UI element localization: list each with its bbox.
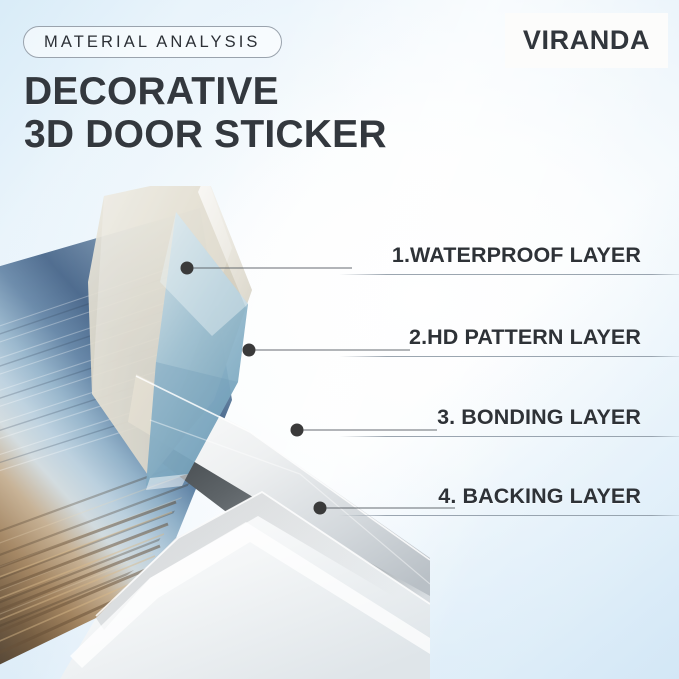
callout-4-label: 4. BACKING LAYER [438, 484, 641, 509]
callout-1-label: 1.WATERPROOF LAYER [392, 243, 641, 268]
page-title-line-2: 3D DOOR STICKER [24, 113, 454, 156]
brand-logo-plate: VIRANDA [505, 13, 668, 68]
callout-2-rule [339, 356, 679, 357]
eyebrow-label: MATERIAL ANALYSIS [44, 33, 261, 52]
poster-canvas: MATERIAL ANALYSIS DECORATIVE 3D DOOR STI… [0, 0, 679, 679]
callout-3-label: 3. BONDING LAYER [437, 405, 641, 430]
callout-4: 4. BACKING LAYER [329, 476, 679, 516]
eyebrow-badge: MATERIAL ANALYSIS [23, 26, 282, 58]
callout-1-rule [339, 274, 679, 275]
callout-2: 2.HD PATTERN LAYER [329, 317, 679, 357]
callout-1: 1.WATERPROOF LAYER [329, 235, 679, 275]
page-title-line-1: DECORATIVE [24, 70, 454, 113]
callout-3-rule [339, 436, 679, 437]
callout-3: 3. BONDING LAYER [329, 397, 679, 437]
brand-name: VIRANDA [523, 25, 650, 56]
callout-2-label: 2.HD PATTERN LAYER [409, 325, 641, 350]
callout-4-rule [339, 515, 679, 516]
page-title: DECORATIVE 3D DOOR STICKER [24, 70, 454, 156]
